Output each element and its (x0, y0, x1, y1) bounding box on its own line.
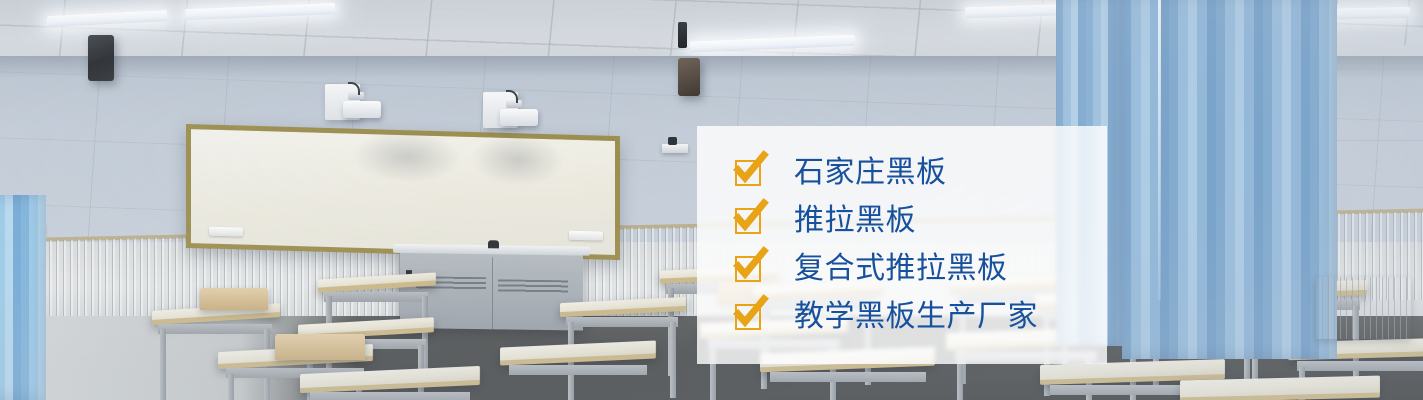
checkbox-checked-icon (735, 208, 761, 234)
wall-speaker (678, 58, 700, 96)
ceiling-sensor (678, 22, 687, 48)
feature-item[interactable]: 石家庄黑板 (735, 149, 1107, 197)
whiteboard (186, 124, 620, 260)
feature-item[interactable]: 推拉黑板 (735, 197, 1107, 245)
projector-body (343, 101, 381, 118)
curtain-panel (1122, 0, 1337, 359)
podium-vent (498, 279, 568, 294)
board-glare (352, 129, 462, 185)
board-marker-tray (209, 227, 243, 237)
podium-knob (488, 240, 499, 248)
wall-camera (662, 144, 688, 153)
feature-list-panel: 石家庄黑板 推拉黑板 复合式推拉黑板 教 (697, 126, 1107, 364)
board-marker-tray (569, 231, 603, 241)
checkbox-checked-icon (735, 304, 761, 330)
feature-label: 推拉黑板 (794, 206, 916, 236)
feature-item[interactable]: 教学黑板生产厂家 (735, 293, 1107, 341)
podium-door-split (492, 257, 493, 329)
wall-speaker (88, 35, 114, 81)
curtain-gap (1158, 0, 1161, 300)
radiator (1316, 277, 1411, 339)
curtain-panel (0, 195, 46, 400)
projector-body (500, 109, 538, 126)
feature-label: 石家庄黑板 (794, 158, 947, 188)
classroom-banner: 石家庄黑板 推拉黑板 复合式推拉黑板 教 (0, 0, 1423, 400)
checkbox-checked-icon (735, 256, 761, 282)
checkbox-checked-icon (735, 160, 761, 186)
board-glare (471, 132, 564, 187)
feature-label: 教学黑板生产厂家 (794, 302, 1038, 332)
feature-item[interactable]: 复合式推拉黑板 (735, 245, 1107, 293)
feature-label: 复合式推拉黑板 (794, 254, 1008, 284)
